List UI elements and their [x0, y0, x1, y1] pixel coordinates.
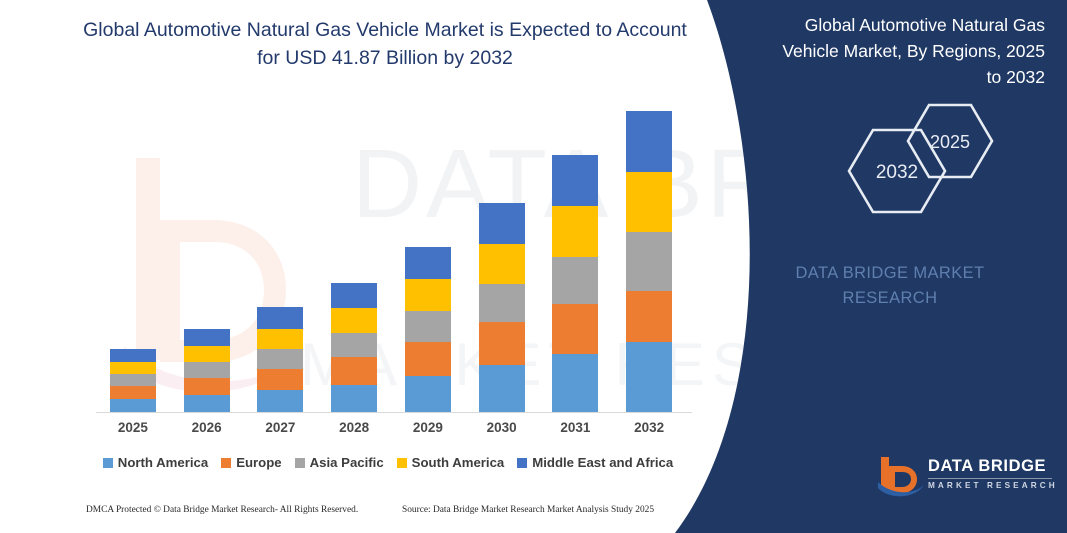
segment-south-america: [405, 279, 451, 311]
segment-south-america: [257, 329, 303, 349]
segment-middle-east-and-africa: [331, 283, 377, 308]
legend-item-middle-east-and-africa[interactable]: Middle East and Africa: [517, 455, 673, 470]
page-title: Global Automotive Natural Gas Vehicle Ma…: [70, 16, 700, 72]
footer-source: Source: Data Bridge Market Research Mark…: [402, 505, 654, 515]
bar-2031[interactable]: [552, 155, 598, 412]
legend-item-asia-pacific[interactable]: Asia Pacific: [295, 455, 384, 470]
segment-middle-east-and-africa: [479, 203, 525, 243]
segment-south-america: [479, 244, 525, 284]
segment-asia-pacific: [331, 333, 377, 357]
segment-asia-pacific: [110, 374, 156, 386]
infographic-root: DATA BRIDGE MARKET RESEARCH Global Autom…: [0, 0, 1067, 533]
segment-europe: [257, 369, 303, 391]
bar-2029[interactable]: [405, 247, 451, 412]
bar-2027[interactable]: [257, 307, 303, 412]
segment-asia-pacific: [257, 349, 303, 369]
segment-europe: [405, 342, 451, 377]
legend-item-europe[interactable]: Europe: [221, 455, 281, 470]
segment-asia-pacific: [479, 284, 525, 322]
data-bridge-logo: DATA BRIDGE MARKET RESEARCH: [878, 455, 1058, 503]
logo-mark-icon: [878, 455, 924, 499]
segment-north-america: [552, 354, 598, 412]
segment-north-america: [257, 390, 303, 412]
legend-swatch-icon: [103, 458, 113, 468]
segment-europe: [110, 386, 156, 399]
segment-asia-pacific: [552, 257, 598, 304]
right-panel: Global Automotive Natural Gas Vehicle Ma…: [667, 0, 1067, 533]
legend-label: Europe: [236, 455, 281, 470]
x-label-2028: 2028: [324, 420, 384, 435]
legend-item-north-america[interactable]: North America: [103, 455, 208, 470]
segment-middle-east-and-africa: [405, 247, 451, 279]
segment-asia-pacific: [626, 232, 672, 290]
x-label-2031: 2031: [545, 420, 605, 435]
segment-north-america: [110, 399, 156, 412]
segment-south-america: [626, 172, 672, 232]
segment-europe: [552, 304, 598, 354]
stacked-bar-chart: [96, 110, 686, 413]
chart-legend: North AmericaEuropeAsia PacificSouth Ame…: [96, 455, 680, 470]
chart-plot-area: [96, 110, 686, 413]
legend-item-south-america[interactable]: South America: [397, 455, 505, 470]
x-label-2029: 2029: [398, 420, 458, 435]
segment-middle-east-and-africa: [552, 155, 598, 206]
segment-asia-pacific: [405, 311, 451, 342]
x-axis-labels: 20252026202720282029203020312032: [96, 420, 686, 442]
segment-north-america: [479, 365, 525, 412]
logo-title: DATA BRIDGE: [928, 457, 1046, 476]
x-label-2026: 2026: [177, 420, 237, 435]
x-axis-line: [96, 412, 692, 413]
bar-2032[interactable]: [626, 111, 672, 412]
legend-label: South America: [412, 455, 505, 470]
bar-2025[interactable]: [110, 349, 156, 412]
legend-label: North America: [118, 455, 208, 470]
panel-heading: Global Automotive Natural Gas Vehicle Ma…: [765, 12, 1045, 90]
segment-middle-east-and-africa: [626, 111, 672, 172]
x-label-2027: 2027: [250, 420, 310, 435]
legend-swatch-icon: [397, 458, 407, 468]
segment-north-america: [626, 342, 672, 412]
legend-swatch-icon: [221, 458, 231, 468]
segment-middle-east-and-africa: [184, 329, 230, 346]
legend-swatch-icon: [295, 458, 305, 468]
legend-label: Middle East and Africa: [532, 455, 673, 470]
segment-north-america: [405, 376, 451, 412]
logo-divider: [928, 478, 1052, 479]
logo-subtitle: MARKET RESEARCH: [928, 481, 1058, 490]
footer-copyright: DMCA Protected © Data Bridge Market Rese…: [86, 505, 358, 515]
panel-brand-text: DATA BRIDGE MARKET RESEARCH: [755, 261, 1025, 311]
segment-south-america: [331, 308, 377, 333]
legend-swatch-icon: [517, 458, 527, 468]
x-label-2030: 2030: [472, 420, 532, 435]
segment-europe: [479, 322, 525, 365]
segment-north-america: [184, 395, 230, 412]
segment-middle-east-and-africa: [110, 349, 156, 362]
segment-south-america: [184, 346, 230, 362]
segment-asia-pacific: [184, 362, 230, 378]
segment-middle-east-and-africa: [257, 307, 303, 329]
legend-label: Asia Pacific: [310, 455, 384, 470]
bar-2028[interactable]: [331, 283, 377, 412]
segment-south-america: [552, 206, 598, 256]
segment-europe: [626, 291, 672, 343]
segment-europe: [184, 378, 230, 395]
x-label-2025: 2025: [103, 420, 163, 435]
bar-2026[interactable]: [184, 329, 230, 412]
segment-europe: [331, 357, 377, 384]
footer: DMCA Protected © Data Bridge Market Rese…: [0, 505, 700, 525]
bar-2030[interactable]: [479, 203, 525, 412]
segment-north-america: [331, 385, 377, 412]
segment-south-america: [110, 362, 156, 374]
